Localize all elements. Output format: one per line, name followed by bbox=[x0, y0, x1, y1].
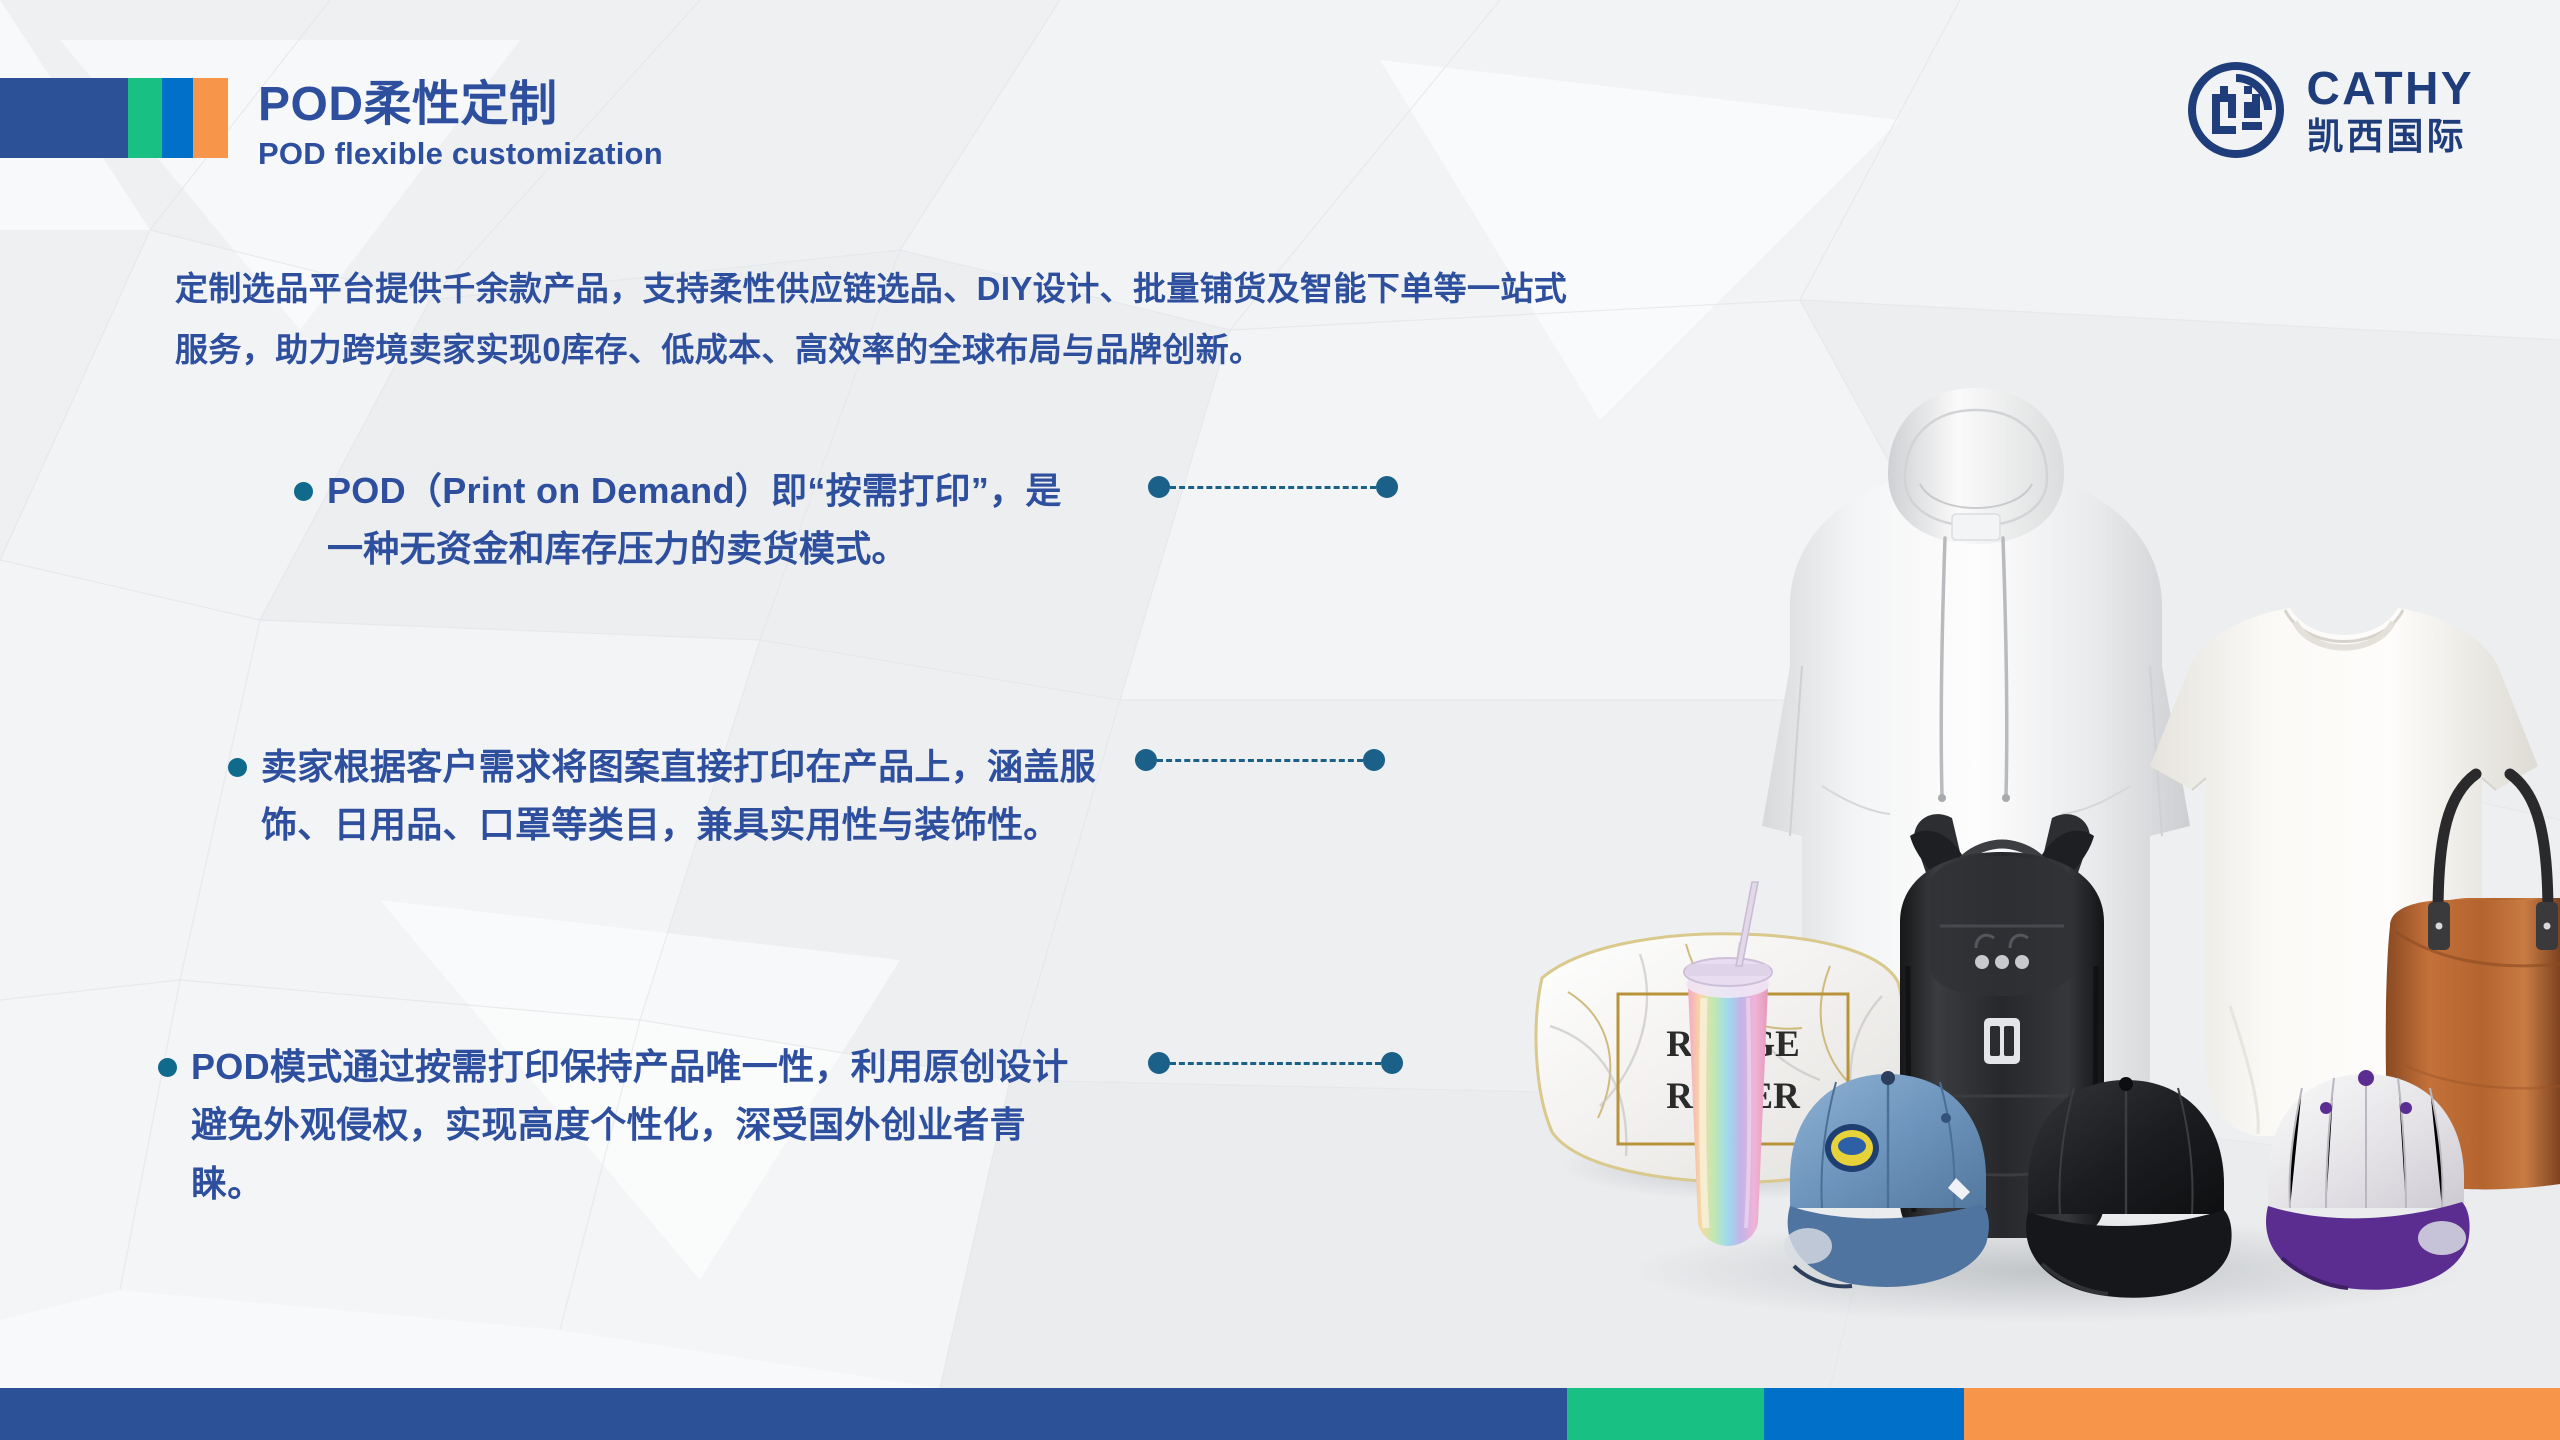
connector-dashed-line bbox=[1170, 1062, 1381, 1065]
page-title-cn: POD柔性定制 bbox=[258, 78, 663, 132]
footer-segment-blue bbox=[1764, 1388, 1964, 1440]
bullet-text: POD模式通过按需打印保持产品唯一性，利用原创设计避免外观侵权，实现高度个性化，… bbox=[191, 1038, 1088, 1213]
dashed-connector-1 bbox=[1148, 475, 1398, 499]
connector-dot-right-icon bbox=[1381, 1052, 1403, 1074]
brand-name-en: CATHY bbox=[2306, 65, 2474, 111]
bullet-text: POD（Print on Demand）即“按需打印”，是一种无资金和库存压力的… bbox=[327, 462, 1084, 579]
connector-dashed-line bbox=[1157, 759, 1363, 762]
accent-segment-navy bbox=[0, 78, 128, 158]
footer-segment-green bbox=[1567, 1388, 1764, 1440]
page-title-block: POD柔性定制 POD flexible customization bbox=[258, 78, 663, 172]
accent-segment-green bbox=[128, 78, 162, 158]
brand-logo-text: CATHY 凯西国际 bbox=[2306, 65, 2474, 155]
footer-segment-orange bbox=[1964, 1388, 2560, 1440]
header-accent-bar bbox=[0, 78, 228, 158]
connector-dot-left-icon bbox=[1135, 749, 1157, 771]
brand-logo: CATHY 凯西国际 bbox=[2186, 60, 2474, 160]
bullet-dot-icon bbox=[228, 758, 247, 777]
bullet-dot-icon bbox=[294, 482, 313, 501]
bullet-dot-icon bbox=[158, 1058, 177, 1077]
connector-dot-right-icon bbox=[1363, 749, 1385, 771]
footer-segment-navy bbox=[0, 1388, 1567, 1440]
footer-accent-bar bbox=[0, 1388, 2560, 1440]
accent-segment-blue bbox=[162, 78, 193, 158]
connector-dot-left-icon bbox=[1148, 1052, 1170, 1074]
bullet-item-pod-definition: POD（Print on Demand）即“按需打印”，是一种无资金和库存压力的… bbox=[294, 462, 1084, 579]
product-montage-image: RANGE ROVER bbox=[1490, 366, 2560, 1366]
bullet-text: 卖家根据客户需求将图案直接打印在产品上，涵盖服饰、日用品、口罩等类目，兼具实用性… bbox=[261, 738, 1098, 855]
page-title-en: POD flexible customization bbox=[258, 136, 663, 172]
dashed-connector-2 bbox=[1135, 748, 1385, 772]
product-black-cap bbox=[2026, 1077, 2232, 1298]
brand-name-cn: 凯西国际 bbox=[2306, 118, 2474, 155]
bullet-item-print-categories: 卖家根据客户需求将图案直接打印在产品上，涵盖服饰、日用品、口罩等类目，兼具实用性… bbox=[228, 738, 1098, 855]
bullet-item-uniqueness-ip: POD模式通过按需打印保持产品唯一性，利用原创设计避免外观侵权，实现高度个性化，… bbox=[158, 1038, 1088, 1213]
connector-dashed-line bbox=[1170, 486, 1376, 489]
connector-dot-left-icon bbox=[1148, 476, 1170, 498]
connector-dot-right-icon bbox=[1376, 476, 1398, 498]
intro-paragraph: 定制选品平台提供千余款产品，支持柔性供应链选品、DIY设计、批量铺货及智能下单等… bbox=[175, 258, 1595, 380]
cathy-emblem-icon bbox=[2186, 60, 2286, 160]
accent-segment-orange bbox=[193, 78, 228, 158]
dashed-connector-3 bbox=[1148, 1051, 1403, 1075]
